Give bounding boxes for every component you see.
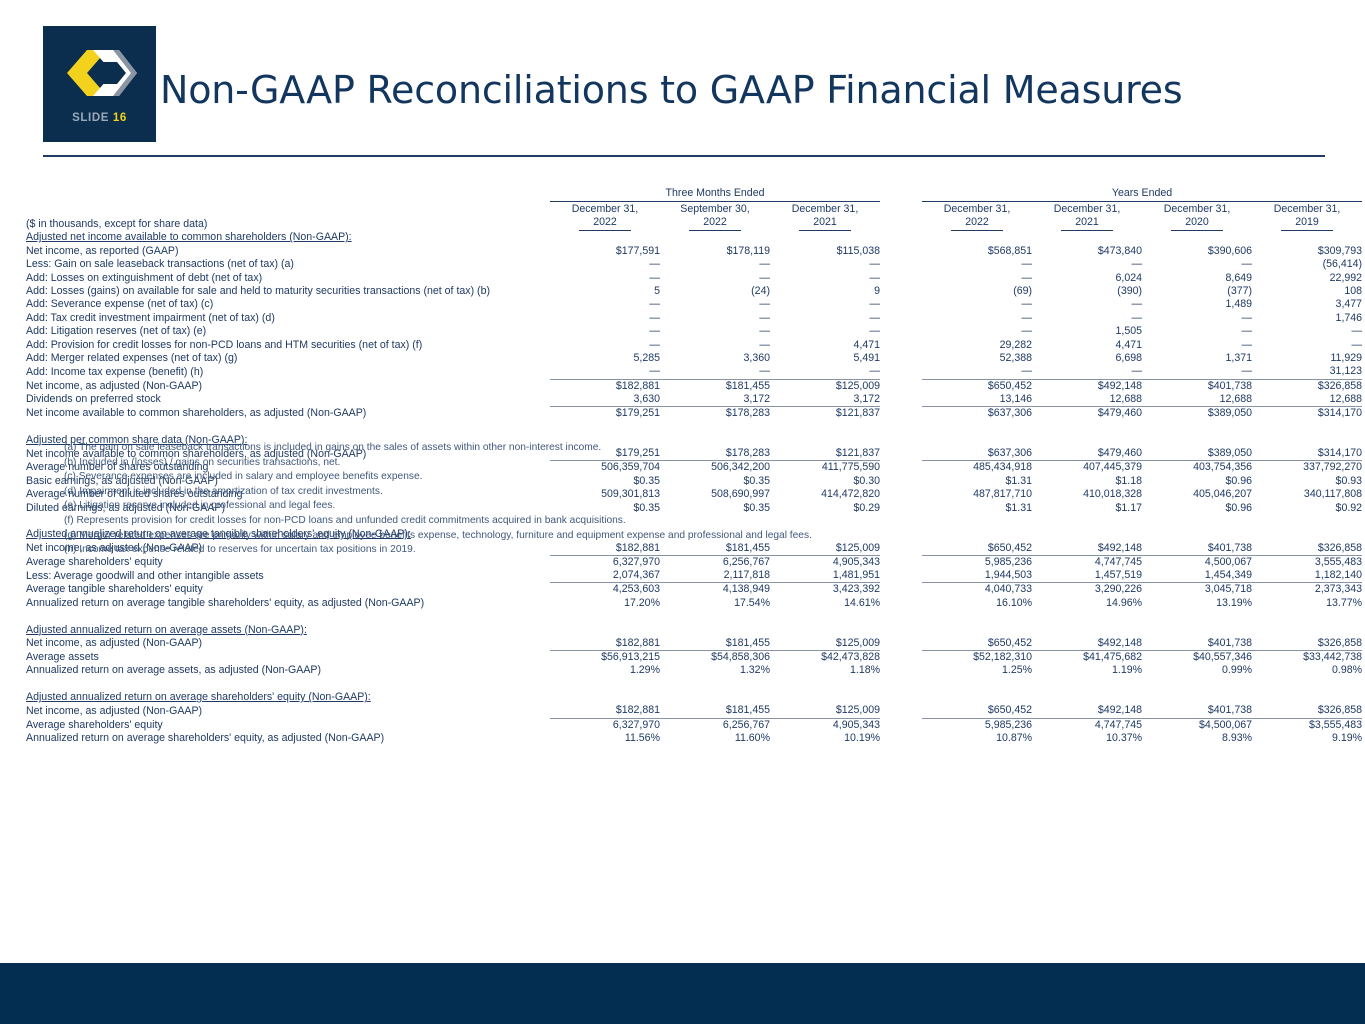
cell-value: $389,050 bbox=[1142, 407, 1252, 421]
cell-value: — bbox=[550, 312, 660, 325]
cell-value: — bbox=[1252, 338, 1362, 351]
column-header-0-line1: December 31, bbox=[550, 201, 660, 216]
cell-value: $650,452 bbox=[922, 704, 1032, 718]
section-title: Adjusted annualized return on average as… bbox=[26, 623, 528, 636]
cell-value: — bbox=[922, 365, 1032, 379]
cell-value: 16.10% bbox=[922, 597, 1032, 610]
row-label: Less: Gain on sale leaseback transaction… bbox=[26, 258, 528, 271]
page-title: Non-GAAP Reconciliations to GAAP Financi… bbox=[160, 68, 1182, 112]
cell-value: — bbox=[550, 365, 660, 379]
cell-value: 17.20% bbox=[550, 597, 660, 610]
cell-value: $182,881 bbox=[550, 379, 660, 393]
cell-value: 5,491 bbox=[770, 352, 880, 365]
cell-value: $181,455 bbox=[660, 637, 770, 651]
cell-value: $42,473,828 bbox=[770, 651, 880, 665]
table-row: Annualized return on average shareholder… bbox=[26, 732, 1362, 745]
cell-value: $492,148 bbox=[1032, 637, 1142, 651]
cell-value: — bbox=[922, 258, 1032, 271]
cell-value: — bbox=[770, 365, 880, 379]
section-title-row: Adjusted net income available to common … bbox=[26, 231, 1362, 244]
row-label: Add: Merger related expenses (net of tax… bbox=[26, 352, 528, 365]
row-label: Add: Income tax expense (benefit) (h) bbox=[26, 365, 528, 379]
column-header-3-line1: December 31, bbox=[922, 201, 1032, 216]
cell-value: $115,038 bbox=[770, 245, 880, 258]
section-title-row: Adjusted annualized return on average sh… bbox=[26, 691, 1362, 704]
slide-word: SLIDE bbox=[72, 112, 109, 124]
cell-value: $568,851 bbox=[922, 245, 1032, 258]
cell-value: — bbox=[922, 312, 1032, 325]
footnote-item: (d) Impairment is included in the amorti… bbox=[26, 485, 1126, 500]
column-header-1-line1: September 30, bbox=[660, 201, 770, 216]
cell-value: — bbox=[550, 258, 660, 271]
cell-value: $0.92 bbox=[1252, 501, 1362, 514]
slide-header: SLIDE 16 Non-GAAP Reconciliations to GAA… bbox=[0, 0, 1365, 160]
cell-value: 1,454,349 bbox=[1142, 569, 1252, 583]
group-header-row: Three Months EndedYears Ended bbox=[26, 186, 1362, 201]
cell-value: $314,170 bbox=[1252, 407, 1362, 421]
column-header-2-line2: 2021 bbox=[770, 216, 880, 231]
cell-value: 29,282 bbox=[922, 338, 1032, 351]
cell-value: — bbox=[770, 258, 880, 271]
cell-value: 52,388 bbox=[922, 352, 1032, 365]
cell-value: — bbox=[550, 298, 660, 311]
cell-value: $401,738 bbox=[1142, 637, 1252, 651]
cell-value: (56,414) bbox=[1252, 258, 1362, 271]
table-row: Annualized return on average assets, as … bbox=[26, 664, 1362, 677]
units-note: ($ in thousands, except for share data) bbox=[26, 216, 528, 231]
cell-value: $125,009 bbox=[770, 704, 880, 718]
cell-value: — bbox=[660, 338, 770, 351]
cell-value: 108 bbox=[1252, 285, 1362, 298]
cell-value: $181,455 bbox=[660, 379, 770, 393]
footnote-item: (a) The gain on sale leaseback transacti… bbox=[26, 441, 1126, 456]
row-label: Annualized return on average tangible sh… bbox=[26, 597, 528, 610]
column-header-0-line2: 2022 bbox=[550, 216, 660, 231]
column-header-5-line2: 2020 bbox=[1142, 216, 1252, 231]
cell-value: — bbox=[770, 312, 880, 325]
cell-value: $56,913,215 bbox=[550, 651, 660, 665]
cell-value: $401,738 bbox=[1142, 542, 1252, 556]
table-row: Annualized return on average tangible sh… bbox=[26, 597, 1362, 610]
cell-value: — bbox=[1142, 325, 1252, 338]
table-row: Add: Income tax expense (benefit) (h)———… bbox=[26, 365, 1362, 379]
cell-value: $182,881 bbox=[550, 704, 660, 718]
slide-root: SLIDE 16 Non-GAAP Reconciliations to GAA… bbox=[0, 0, 1365, 1024]
cell-value: $492,148 bbox=[1032, 704, 1142, 718]
table-row: Less: Average goodwill and other intangi… bbox=[26, 569, 1362, 583]
section-spacer bbox=[26, 420, 1362, 433]
cell-value: 1,746 bbox=[1252, 312, 1362, 325]
cell-value: 22,992 bbox=[1252, 271, 1362, 284]
column-header-1-line2: 2022 bbox=[660, 216, 770, 231]
footnotes-block: (a) The gain on sale leaseback transacti… bbox=[26, 441, 1126, 558]
cell-value: 14.96% bbox=[1032, 597, 1142, 610]
cell-value: — bbox=[1142, 312, 1252, 325]
cell-value: 3,290,226 bbox=[1032, 583, 1142, 597]
row-label: Net income, as adjusted (Non-GAAP) bbox=[26, 379, 528, 393]
cell-value: $326,858 bbox=[1252, 637, 1362, 651]
table-row: Less: Gain on sale leaseback transaction… bbox=[26, 258, 1362, 271]
section-title-row: Adjusted annualized return on average as… bbox=[26, 623, 1362, 636]
cell-value: 1,505 bbox=[1032, 325, 1142, 338]
cell-value: $3,555,483 bbox=[1252, 718, 1362, 732]
cell-value: 6,327,970 bbox=[550, 718, 660, 732]
section-title: Adjusted annualized return on average sh… bbox=[26, 691, 528, 704]
cell-value: 3,555,483 bbox=[1252, 555, 1362, 569]
cell-value: 12,688 bbox=[1252, 393, 1362, 407]
cell-value: 11,929 bbox=[1252, 352, 1362, 365]
cell-value: 5 bbox=[550, 285, 660, 298]
row-label: Average tangible shareholders' equity bbox=[26, 583, 528, 597]
table-row: Net income available to common sharehold… bbox=[26, 407, 1362, 421]
cell-value: 4,500,067 bbox=[1142, 555, 1252, 569]
cell-value: $179,251 bbox=[550, 407, 660, 421]
cell-value: $401,738 bbox=[1142, 379, 1252, 393]
footnote-item: (f) Represents provision for credit loss… bbox=[26, 514, 1126, 529]
cell-value: 405,046,207 bbox=[1142, 488, 1252, 501]
slide-number: 16 bbox=[113, 112, 127, 124]
table-row: Add: Losses on extinguishment of debt (n… bbox=[26, 271, 1362, 284]
group-header-years: Years Ended bbox=[922, 186, 1362, 201]
row-label: Add: Losses on extinguishment of debt (n… bbox=[26, 271, 528, 284]
cell-value: 403,754,356 bbox=[1142, 461, 1252, 475]
cell-value: $473,840 bbox=[1032, 245, 1142, 258]
cell-value: 4,138,949 bbox=[660, 583, 770, 597]
cell-value: — bbox=[1032, 258, 1142, 271]
cell-value: 3,630 bbox=[550, 393, 660, 407]
cell-value: — bbox=[660, 271, 770, 284]
cell-value: 12,688 bbox=[1142, 393, 1252, 407]
cell-value: 6,698 bbox=[1032, 352, 1142, 365]
column-header-3-line2: 2022 bbox=[922, 216, 1032, 231]
cell-value: 14.61% bbox=[770, 597, 880, 610]
footer-bar bbox=[0, 963, 1365, 1024]
footnote-item: (c) Severance expenses are included in s… bbox=[26, 470, 1126, 485]
cell-value: 4,253,603 bbox=[550, 583, 660, 597]
cell-value: $326,858 bbox=[1252, 379, 1362, 393]
cell-value: 1,481,951 bbox=[770, 569, 880, 583]
cell-value: 3,477 bbox=[1252, 298, 1362, 311]
cell-value: $389,050 bbox=[1142, 447, 1252, 461]
table-row: Average assets$56,913,215$54,858,306$42,… bbox=[26, 651, 1362, 665]
cell-value: 2,373,343 bbox=[1252, 583, 1362, 597]
cell-value: $309,793 bbox=[1252, 245, 1362, 258]
row-label: Annualized return on average shareholder… bbox=[26, 732, 528, 745]
cell-value: $178,119 bbox=[660, 245, 770, 258]
cell-value: 1,489 bbox=[1142, 298, 1252, 311]
cell-value: $33,442,738 bbox=[1252, 651, 1362, 665]
table-row: Dividends on preferred stock3,6303,1723,… bbox=[26, 393, 1362, 407]
column-header-6-line2: 2019 bbox=[1252, 216, 1362, 231]
cell-value: 8.93% bbox=[1142, 732, 1252, 745]
cell-value: 1,182,140 bbox=[1252, 569, 1362, 583]
cell-value: $314,170 bbox=[1252, 447, 1362, 461]
cell-value: — bbox=[660, 298, 770, 311]
cell-value: 4,471 bbox=[770, 338, 880, 351]
column-header-4-line2: 2021 bbox=[1032, 216, 1142, 231]
cell-value: 6,024 bbox=[1032, 271, 1142, 284]
cell-value: — bbox=[922, 271, 1032, 284]
row-label: Annualized return on average assets, as … bbox=[26, 664, 528, 677]
row-label: Add: Provision for credit losses for non… bbox=[26, 338, 528, 351]
table-row: Net income, as adjusted (Non-GAAP)$182,8… bbox=[26, 704, 1362, 718]
cell-value: 1.25% bbox=[922, 664, 1032, 677]
row-label: Add: Litigation reserves (net of tax) (e… bbox=[26, 325, 528, 338]
cell-value: — bbox=[1142, 365, 1252, 379]
footnote-item: (h) Income tax expense related to reserv… bbox=[26, 543, 1126, 558]
table-row: Add: Merger related expenses (net of tax… bbox=[26, 352, 1362, 365]
cell-value: $54,858,306 bbox=[660, 651, 770, 665]
cell-value: 9.19% bbox=[1252, 732, 1362, 745]
cell-value: 1.19% bbox=[1032, 664, 1142, 677]
row-label: Average assets bbox=[26, 651, 528, 665]
table-row: Add: Provision for credit losses for non… bbox=[26, 338, 1362, 351]
cell-value: — bbox=[660, 258, 770, 271]
table-row: Add: Losses (gains) on available for sal… bbox=[26, 285, 1362, 298]
section-title: Adjusted net income available to common … bbox=[26, 231, 528, 244]
cell-value: 0.99% bbox=[1142, 664, 1252, 677]
cell-value: — bbox=[922, 325, 1032, 338]
cell-value: $0.96 bbox=[1142, 475, 1252, 488]
cell-value: 1,457,519 bbox=[1032, 569, 1142, 583]
column-header-row-1: December 31,September 30,December 31,Dec… bbox=[26, 201, 1362, 216]
footnote-item: (b) Included in (losses) / gains on secu… bbox=[26, 456, 1126, 471]
cell-value: 11.56% bbox=[550, 732, 660, 745]
table-row: Net income, as adjusted (Non-GAAP)$182,8… bbox=[26, 379, 1362, 393]
cell-value: $326,858 bbox=[1252, 704, 1362, 718]
cell-value: 12,688 bbox=[1032, 393, 1142, 407]
column-header-5-line1: December 31, bbox=[1142, 201, 1252, 216]
cell-value: $637,306 bbox=[922, 407, 1032, 421]
cell-value: 1.18% bbox=[770, 664, 880, 677]
cell-value: 1.29% bbox=[550, 664, 660, 677]
cell-value: — bbox=[1032, 298, 1142, 311]
cell-value: 5,285 bbox=[550, 352, 660, 365]
cell-value: $125,009 bbox=[770, 637, 880, 651]
cell-value: 3,423,392 bbox=[770, 583, 880, 597]
table-row: Add: Litigation reserves (net of tax) (e… bbox=[26, 325, 1362, 338]
cell-value: — bbox=[1032, 365, 1142, 379]
cell-value: 13.19% bbox=[1142, 597, 1252, 610]
cell-value: $181,455 bbox=[660, 704, 770, 718]
cell-value: 4,905,343 bbox=[770, 718, 880, 732]
cell-value: $121,837 bbox=[770, 407, 880, 421]
cell-value: $40,557,346 bbox=[1142, 651, 1252, 665]
column-header-row-2: ($ in thousands, except for share data)2… bbox=[26, 216, 1362, 231]
cell-value: $125,009 bbox=[770, 379, 880, 393]
cell-value: $182,881 bbox=[550, 637, 660, 651]
cell-value: — bbox=[550, 338, 660, 351]
column-header-4-line1: December 31, bbox=[1032, 201, 1142, 216]
cell-value: (390) bbox=[1032, 285, 1142, 298]
table-row: Average tangible shareholders' equity4,2… bbox=[26, 583, 1362, 597]
cell-value: 3,045,718 bbox=[1142, 583, 1252, 597]
cell-value: — bbox=[1142, 338, 1252, 351]
cell-value: $650,452 bbox=[922, 637, 1032, 651]
cell-value: $0.96 bbox=[1142, 501, 1252, 514]
company-logo-icon bbox=[57, 42, 143, 104]
cell-value: — bbox=[550, 271, 660, 284]
cell-value: 13,146 bbox=[922, 393, 1032, 407]
cell-value: 3,360 bbox=[660, 352, 770, 365]
cell-value: 9 bbox=[770, 285, 880, 298]
cell-value: 17.54% bbox=[660, 597, 770, 610]
cell-value: 8,649 bbox=[1142, 271, 1252, 284]
table-row: Net income, as reported (GAAP)$177,591$1… bbox=[26, 245, 1362, 258]
row-label: Net income, as reported (GAAP) bbox=[26, 245, 528, 258]
group-header-three-months: Three Months Ended bbox=[550, 186, 880, 201]
cell-value: 11.60% bbox=[660, 732, 770, 745]
cell-value: 1.32% bbox=[660, 664, 770, 677]
cell-value: 10.37% bbox=[1032, 732, 1142, 745]
cell-value: 10.19% bbox=[770, 732, 880, 745]
section-spacer bbox=[26, 610, 1362, 623]
cell-value: 1,944,503 bbox=[922, 569, 1032, 583]
row-label: Add: Tax credit investment impairment (n… bbox=[26, 312, 528, 325]
cell-value: 31,123 bbox=[1252, 365, 1362, 379]
cell-value: 4,747,745 bbox=[1032, 718, 1142, 732]
table-row: Net income, as adjusted (Non-GAAP)$182,8… bbox=[26, 637, 1362, 651]
cell-value: (24) bbox=[660, 285, 770, 298]
cell-value: 3,172 bbox=[770, 393, 880, 407]
table-row: Average shareholders' equity6,327,9706,2… bbox=[26, 718, 1362, 732]
row-label: Average shareholders' equity bbox=[26, 718, 528, 732]
cell-value: 4,471 bbox=[1032, 338, 1142, 351]
cell-value: $41,475,682 bbox=[1032, 651, 1142, 665]
cell-value: 3,172 bbox=[660, 393, 770, 407]
cell-value: 2,117,818 bbox=[660, 569, 770, 583]
cell-value: — bbox=[1252, 325, 1362, 338]
footnote-item: (e) Litigation reserve included in profe… bbox=[26, 499, 1126, 514]
cell-value: $178,283 bbox=[660, 407, 770, 421]
cell-value: $52,182,310 bbox=[922, 651, 1032, 665]
cell-value: 2,074,367 bbox=[550, 569, 660, 583]
table-header-zone: Three Months EndedYears EndedDecember 31… bbox=[26, 186, 1362, 231]
cell-value: — bbox=[660, 365, 770, 379]
row-label: Dividends on preferred stock bbox=[26, 393, 528, 407]
cell-value: 1,371 bbox=[1142, 352, 1252, 365]
cell-value: — bbox=[550, 325, 660, 338]
logo-badge: SLIDE 16 bbox=[43, 26, 156, 142]
row-label: Add: Losses (gains) on available for sal… bbox=[26, 285, 528, 298]
header-divider bbox=[43, 155, 1325, 157]
cell-value: — bbox=[770, 325, 880, 338]
table-row: Add: Severance expense (net of tax) (c)—… bbox=[26, 298, 1362, 311]
cell-value: $390,606 bbox=[1142, 245, 1252, 258]
cell-value: 6,256,767 bbox=[660, 718, 770, 732]
column-header-6-line1: December 31, bbox=[1252, 201, 1362, 216]
row-label: Add: Severance expense (net of tax) (c) bbox=[26, 298, 528, 311]
row-label: Net income, as adjusted (Non-GAAP) bbox=[26, 704, 528, 718]
cell-value: 10.87% bbox=[922, 732, 1032, 745]
row-label: Less: Average goodwill and other intangi… bbox=[26, 569, 528, 583]
cell-value: 0.98% bbox=[1252, 664, 1362, 677]
cell-value: — bbox=[660, 325, 770, 338]
cell-value: $492,148 bbox=[1032, 379, 1142, 393]
cell-value: — bbox=[922, 298, 1032, 311]
cell-value: 4,040,733 bbox=[922, 583, 1032, 597]
cell-value: 5,985,236 bbox=[922, 718, 1032, 732]
cell-value: — bbox=[1032, 312, 1142, 325]
cell-value: $177,591 bbox=[550, 245, 660, 258]
cell-value: $0.93 bbox=[1252, 475, 1362, 488]
cell-value: — bbox=[770, 271, 880, 284]
row-label: Net income available to common sharehold… bbox=[26, 407, 528, 421]
footnote-item: (g) Merger related expenses are primaril… bbox=[26, 529, 1126, 544]
cell-value: — bbox=[660, 312, 770, 325]
cell-value: — bbox=[770, 298, 880, 311]
cell-value: 340,117,808 bbox=[1252, 488, 1362, 501]
cell-value: $650,452 bbox=[922, 379, 1032, 393]
cell-value: $479,460 bbox=[1032, 407, 1142, 421]
cell-value: $4,500,067 bbox=[1142, 718, 1252, 732]
row-label: Net income, as adjusted (Non-GAAP) bbox=[26, 637, 528, 651]
section-spacer bbox=[26, 678, 1362, 691]
cell-value: (69) bbox=[922, 285, 1032, 298]
cell-value: (377) bbox=[1142, 285, 1252, 298]
cell-value: — bbox=[1142, 258, 1252, 271]
cell-value: $326,858 bbox=[1252, 542, 1362, 556]
cell-value: $401,738 bbox=[1142, 704, 1252, 718]
cell-value: 13.77% bbox=[1252, 597, 1362, 610]
column-header-2-line1: December 31, bbox=[770, 201, 880, 216]
table-row: Add: Tax credit investment impairment (n… bbox=[26, 312, 1362, 325]
slide-number-label: SLIDE 16 bbox=[43, 112, 156, 124]
cell-value: 337,792,270 bbox=[1252, 461, 1362, 475]
